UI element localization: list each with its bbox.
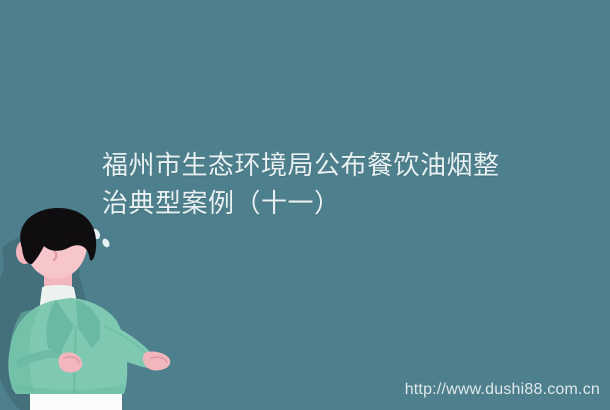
title-line-1: 福州市生态环境局公布餐饮油烟整 [102,146,522,184]
poster-canvas: 福州市生态环境局公布餐饮油烟整 治典型案例（十一） http://www.dus… [0,0,610,410]
watermark-url: http://www.dushi88.com.cn [405,381,600,399]
poster-title: 福州市生态环境局公布餐饮油烟整 治典型案例（十一） [102,146,522,222]
person-illustration [0,208,215,410]
title-line-2: 治典型案例（十一） [102,184,522,222]
